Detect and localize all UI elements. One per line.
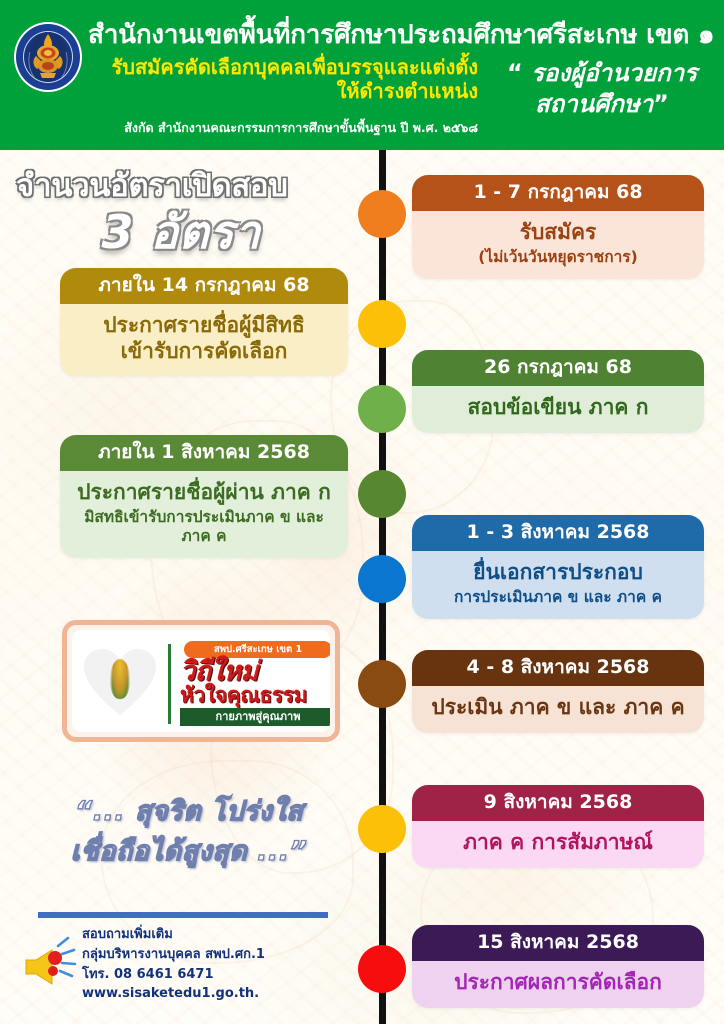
card-main-text: ประกาศผลการคัดเลือก <box>420 970 696 996</box>
card-date-header: 4 - 8 สิงหาคม 2568 <box>412 650 704 686</box>
card-date-header: 15 สิงหาคม 2568 <box>412 925 704 961</box>
card-main-text: รับสมัคร <box>420 220 696 246</box>
affiliation-text: สังกัด สำนักงานคณะกรรมการการศึกษาขั้นพื้… <box>80 118 478 138</box>
campaign-badge: สพป.ศรีสะเกษ เขต 1 วิถีใหม่ หัวใจคุณธรรม… <box>62 620 340 742</box>
card-main-text: สอบข้อเขียน ภาค ก <box>420 395 696 421</box>
org-title: สำนักงานเขตพื้นที่การศึกษาประถมศึกษาศรีส… <box>88 22 700 49</box>
card-date-header: 9 สิงหาคม 2568 <box>412 785 704 821</box>
contact-line-2: กลุ่มบริหารงานบุคคล สพป.ศก.1 <box>82 945 372 965</box>
dot-submit-docs <box>358 555 406 603</box>
card-body: ยื่นเอกสารประกอบการประเมินภาค ข และ ภาค … <box>412 551 704 619</box>
slogan-line-1: “... สุจริต โปร่งใส <box>24 792 354 832</box>
dot-part-a-pass <box>358 470 406 518</box>
position-quote-line-2: สถานศึกษา <box>535 90 653 118</box>
card-date-header: 26 กรกฎาคม 68 <box>412 350 704 386</box>
megaphone-icon <box>22 930 80 988</box>
card-main-text: ประกาศรายชื่อผู้ผ่าน ภาค ก <box>68 480 340 506</box>
card-final-results: 15 สิงหาคม 2568ประกาศผลการคัดเลือก <box>412 925 704 1008</box>
card-body: สอบข้อเขียน ภาค ก <box>412 386 704 433</box>
quote-open-mark: “ <box>507 59 523 87</box>
card-main-text: ภาค ค การสัมภาษณ์ <box>420 830 696 856</box>
card-body: ประกาศรายชื่อผู้ผ่าน ภาค กมิสทธิเข้ารับก… <box>60 471 348 558</box>
card-date-header: 1 - 3 สิงหาคม 2568 <box>412 515 704 551</box>
dot-assessment <box>358 660 406 708</box>
card-main-text: ยื่นเอกสารประกอบ <box>420 560 696 586</box>
card-sub-text: มิสทธิเข้ารับการประเมินภาค ข และ ภาค ค <box>68 508 340 547</box>
infographic-poster: สำนักงานเขตพื้นที่การศึกษาประถมศึกษาศรีส… <box>0 0 724 1024</box>
badge-title-line-2: หัวใจคุณธรรม <box>180 685 330 706</box>
card-assessment: 4 - 8 สิงหาคม 2568ประเมิน ภาค ข และ ภาค … <box>412 650 704 733</box>
card-submit-docs: 1 - 3 สิงหาคม 2568ยื่นเอกสารประกอบการประ… <box>412 515 704 619</box>
card-date-header: ภายใน 14 กรกฎาคม 68 <box>60 268 348 304</box>
vacancy-count: 3 อัตรา <box>16 196 346 269</box>
quote-close-mark: ” <box>653 90 669 118</box>
card-sub-text: การประเมินภาค ข และ ภาค ค <box>420 588 696 607</box>
dot-interview <box>358 805 406 853</box>
card-part-a-pass: ภายใน 1 สิงหาคม 2568ประกาศรายชื่อผู้ผ่าน… <box>60 435 348 558</box>
dot-written-exam <box>358 385 406 433</box>
card-body: รับสมัคร(ไม่เว้นวันหยุดราชการ) <box>412 211 704 279</box>
badge-divider <box>168 644 171 724</box>
card-main-text: ประกาศรายชื่อผู้มีสิทธิ <box>68 313 340 339</box>
contact-block: สอบถามเพิ่มเติม กลุ่มบริหารงานบุคคล สพป.… <box>82 925 372 1004</box>
contact-line-3[interactable]: โทร. 08 6461 6471 www.sisaketedu1.go.th. <box>82 965 372 1005</box>
position-quote: “ รองผู้อำนวยการ สถานศึกษา” <box>484 58 720 120</box>
dot-application <box>358 190 406 238</box>
announcement-lines: รับสมัครคัดเลือกบุคคลเพื่อบรรจุและแต่งตั… <box>80 55 478 104</box>
card-sub-text: (ไม่เว้นวันหยุดราชการ) <box>420 248 696 267</box>
card-body: ประเมิน ภาค ข และ ภาค ค <box>412 686 704 733</box>
garuda-emblem-icon <box>14 22 82 92</box>
card-main-text: เข้ารับการคัดเลือก <box>68 339 340 365</box>
announcement-line-2: ให้ดำรงตำแหน่ง <box>80 79 478 103</box>
position-quote-line-1: รองผู้อำนวยการ <box>531 59 697 87</box>
heart-emblem-icon <box>84 643 156 723</box>
card-body: ภาค ค การสัมภาษณ์ <box>412 821 704 868</box>
badge-title-line-1: วิถีใหม่ <box>180 658 330 685</box>
poster-header: สำนักงานเขตพื้นที่การศึกษาประถมศึกษาศรีส… <box>0 0 724 150</box>
card-written-exam: 26 กรกฎาคม 68สอบข้อเขียน ภาค ก <box>412 350 704 433</box>
card-date-header: ภายใน 1 สิงหาคม 2568 <box>60 435 348 471</box>
contact-line-1: สอบถามเพิ่มเติม <box>82 925 372 945</box>
card-body: ประกาศผลการคัดเลือก <box>412 961 704 1008</box>
slogan-line-2: เชื่อถือได้สูงสุด ...” <box>24 832 354 872</box>
card-application: 1 - 7 กรกฎาคม 68รับสมัคร(ไม่เว้นวันหยุดร… <box>412 175 704 279</box>
footer-divider <box>38 912 328 918</box>
card-date-header: 1 - 7 กรกฎาคม 68 <box>412 175 704 211</box>
card-eligible-list: ภายใน 14 กรกฎาคม 68ประกาศรายชื่อผู้มีสิท… <box>60 268 348 376</box>
announcement-line-1: รับสมัครคัดเลือกบุคคลเพื่อบรรจุและแต่งตั… <box>80 55 478 79</box>
card-main-text: ประเมิน ภาค ข และ ภาค ค <box>420 695 696 721</box>
integrity-slogan: “... สุจริต โปร่งใส เชื่อถือได้สูงสุด ..… <box>24 792 354 872</box>
card-interview: 9 สิงหาคม 2568ภาค ค การสัมภาษณ์ <box>412 785 704 868</box>
card-body: ประกาศรายชื่อผู้มีสิทธิเข้ารับการคัดเลือ… <box>60 304 348 376</box>
dot-eligible-list <box>358 300 406 348</box>
badge-footer-text: กายภาพสู่คุณภาพ <box>180 708 330 726</box>
